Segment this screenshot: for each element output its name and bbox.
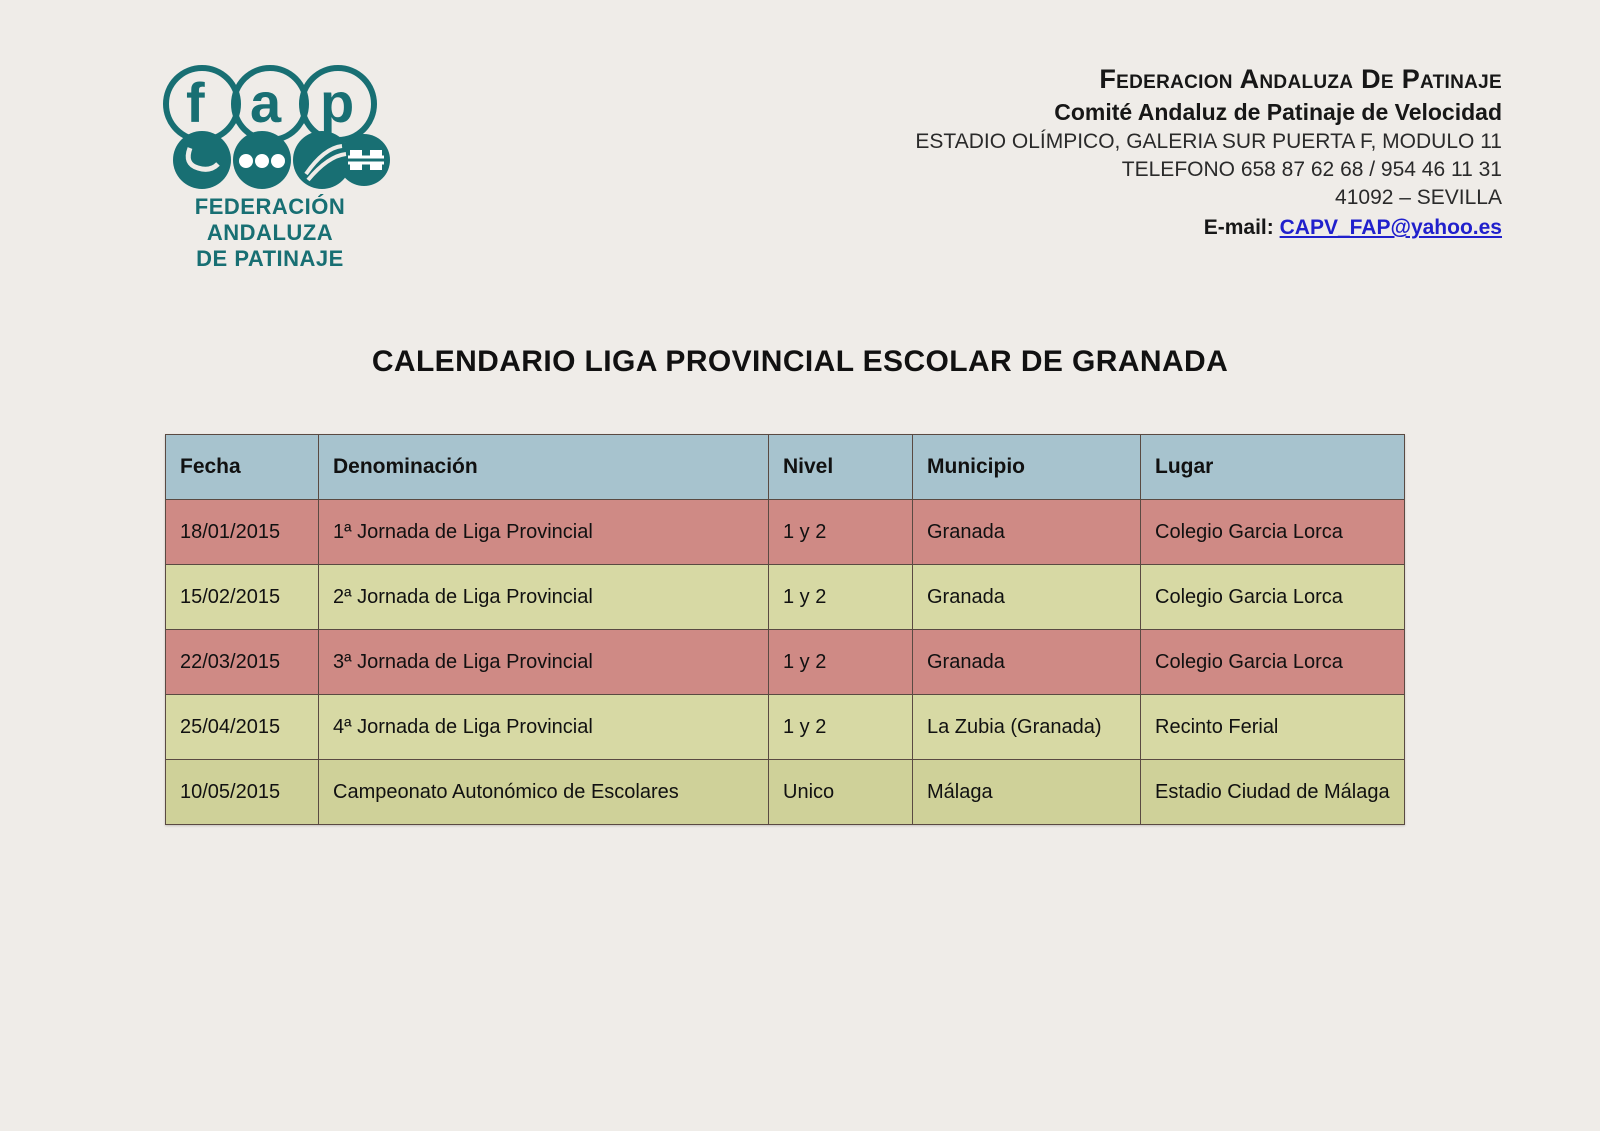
svg-text:a: a: [250, 71, 282, 134]
postal-line: 41092 – SEVILLA: [915, 184, 1502, 212]
calendar-table-wrap: Fecha Denominación Nivel Municipio Lugar…: [165, 434, 1404, 825]
calendar-table: Fecha Denominación Nivel Municipio Lugar…: [165, 434, 1405, 825]
cell-nivel: 1 y 2: [769, 630, 913, 695]
cell-fecha: 18/01/2015: [166, 500, 319, 565]
email-link[interactable]: CAPV_FAP@yahoo.es: [1280, 216, 1502, 239]
cell-municipio: La Zubia (Granada): [913, 695, 1141, 760]
cell-nivel: 1 y 2: [769, 500, 913, 565]
table-row: 25/04/2015 4ª Jornada de Liga Provincial…: [166, 695, 1405, 760]
address-line: ESTADIO OLÍMPICO, GALERIA SUR PUERTA F, …: [915, 128, 1502, 156]
fap-logo-icon: f a p: [130, 62, 410, 192]
table-row: 15/02/2015 2ª Jornada de Liga Provincial…: [166, 565, 1405, 630]
logo-caption-line2: DE PATINAJE: [130, 246, 410, 272]
logo-caption-line1: FEDERACIÓN ANDALUZA: [130, 194, 410, 246]
svg-text:p: p: [320, 71, 354, 134]
cell-municipio: Granada: [913, 565, 1141, 630]
cell-denominacion: 4ª Jornada de Liga Provincial: [319, 695, 769, 760]
column-header-municipio: Municipio: [913, 435, 1141, 500]
svg-text:f: f: [186, 71, 205, 134]
table-row: 22/03/2015 3ª Jornada de Liga Provincial…: [166, 630, 1405, 695]
cell-denominacion: 1ª Jornada de Liga Provincial: [319, 500, 769, 565]
calendar-table-body: 18/01/2015 1ª Jornada de Liga Provincial…: [166, 500, 1405, 825]
cell-denominacion: 3ª Jornada de Liga Provincial: [319, 630, 769, 695]
organization-contact-block: Federacion Andaluza de Patinaje Comité A…: [915, 64, 1502, 243]
table-row: 10/05/2015 Campeonato Autonómico de Esco…: [166, 760, 1405, 825]
table-header-row: Fecha Denominación Nivel Municipio Lugar: [166, 435, 1405, 500]
email-label: E-mail:: [1204, 216, 1274, 239]
page-title: CALENDARIO LIGA PROVINCIAL ESCOLAR DE GR…: [0, 345, 1600, 379]
cell-municipio: Málaga: [913, 760, 1141, 825]
cell-municipio: Granada: [913, 630, 1141, 695]
cell-fecha: 10/05/2015: [166, 760, 319, 825]
cell-fecha: 25/04/2015: [166, 695, 319, 760]
column-header-lugar: Lugar: [1141, 435, 1405, 500]
committee-name: Comité Andaluz de Patinaje de Velocidad: [915, 98, 1502, 128]
cell-lugar: Estadio Ciudad de Málaga: [1141, 760, 1405, 825]
cell-lugar: Recinto Ferial: [1141, 695, 1405, 760]
federation-logo-block: f a p: [130, 62, 410, 272]
cell-municipio: Granada: [913, 500, 1141, 565]
cell-fecha: 15/02/2015: [166, 565, 319, 630]
cell-lugar: Colegio Garcia Lorca: [1141, 630, 1405, 695]
table-row: 18/01/2015 1ª Jornada de Liga Provincial…: [166, 500, 1405, 565]
cell-lugar: Colegio Garcia Lorca: [1141, 500, 1405, 565]
cell-nivel: 1 y 2: [769, 695, 913, 760]
document-header: f a p: [0, 0, 1600, 270]
cell-denominacion: Campeonato Autonómico de Escolares: [319, 760, 769, 825]
column-header-fecha: Fecha: [166, 435, 319, 500]
column-header-nivel: Nivel: [769, 435, 913, 500]
cell-denominacion: 2ª Jornada de Liga Provincial: [319, 565, 769, 630]
federation-name: Federacion Andaluza de Patinaje: [915, 64, 1502, 95]
email-line: E-mail: CAPV_FAP@yahoo.es: [915, 213, 1502, 242]
column-header-denominacion: Denominación: [319, 435, 769, 500]
cell-nivel: Unico: [769, 760, 913, 825]
cell-lugar: Colegio Garcia Lorca: [1141, 565, 1405, 630]
cell-nivel: 1 y 2: [769, 565, 913, 630]
phone-line: TELEFONO 658 87 62 68 / 954 46 11 31: [915, 156, 1502, 184]
cell-fecha: 22/03/2015: [166, 630, 319, 695]
